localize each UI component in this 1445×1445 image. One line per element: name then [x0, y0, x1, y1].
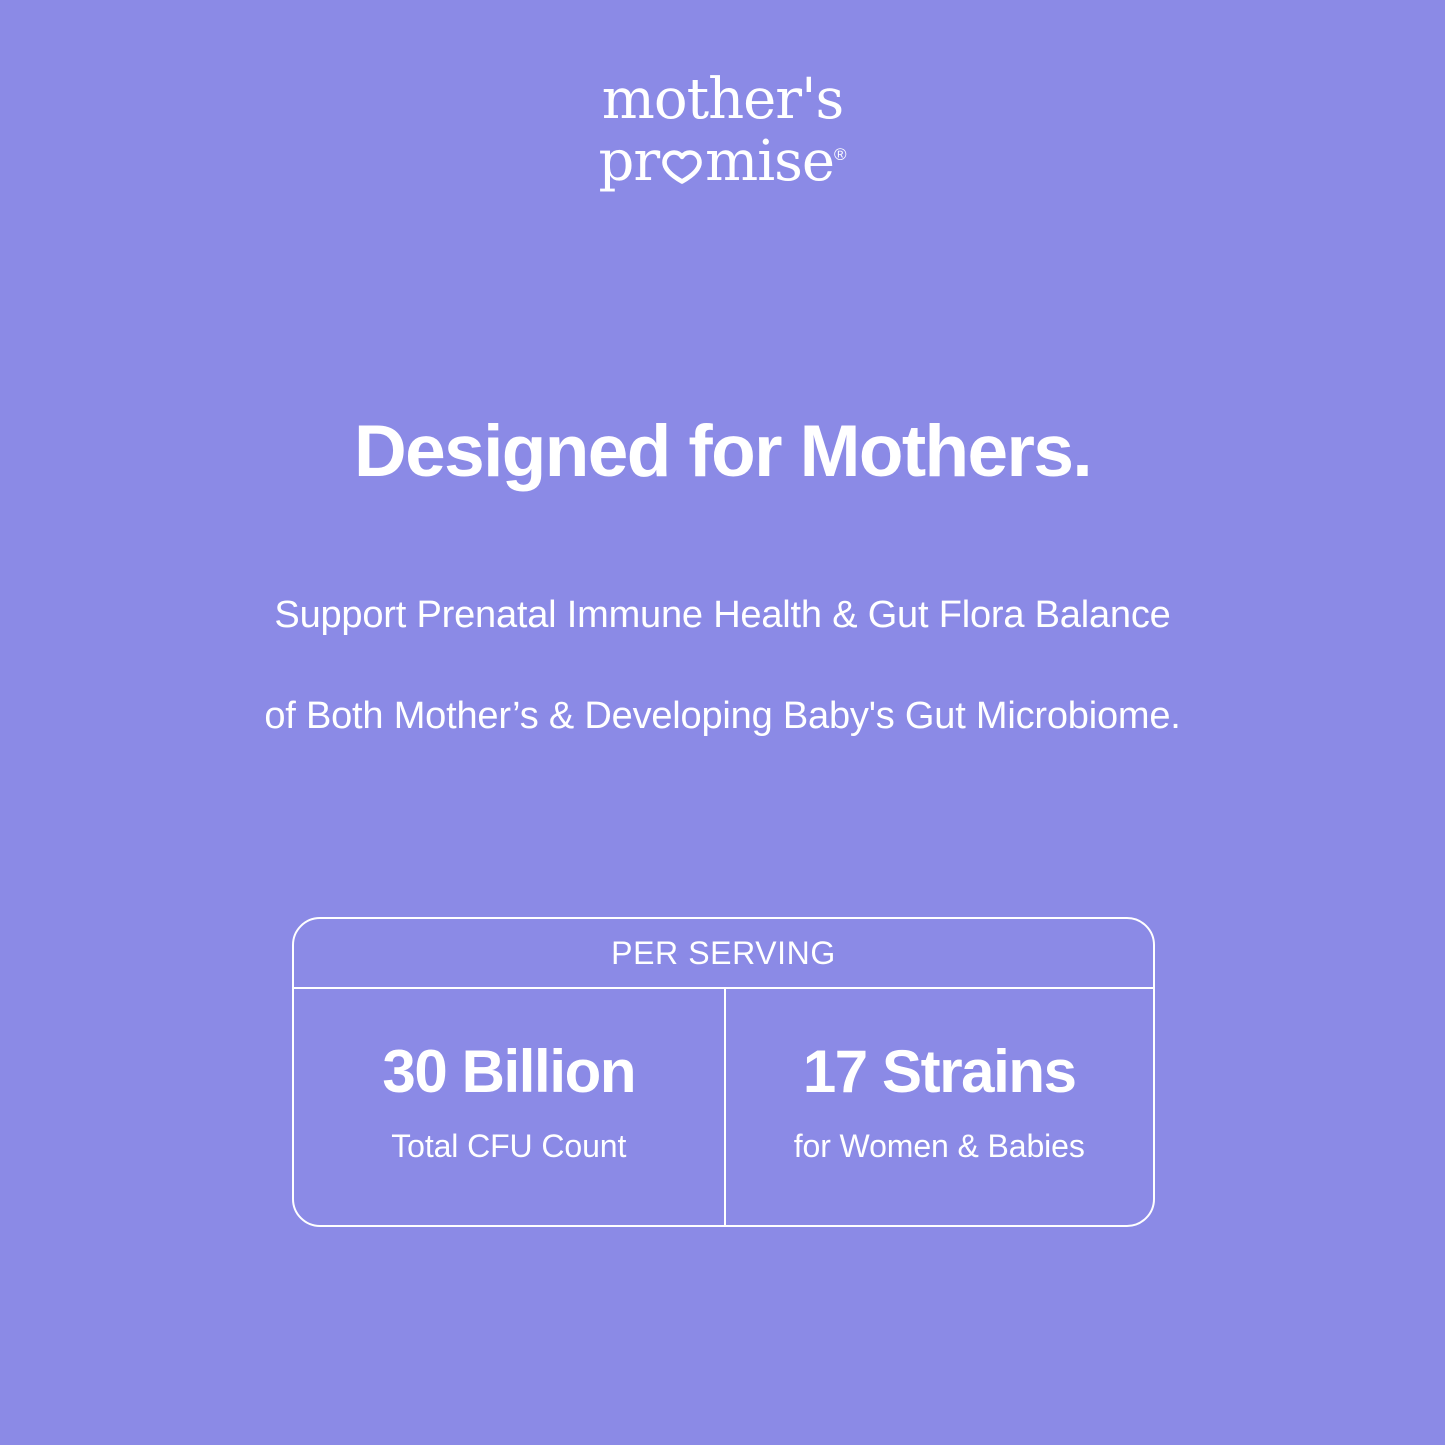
brand-logo-line-2: prmise® [0, 134, 1445, 190]
stat-value-strains: 17 Strains [803, 1042, 1076, 1102]
registered-trademark-icon: ® [834, 145, 847, 164]
stat-caption-cfu-count: Total CFU Count [391, 1130, 626, 1162]
stat-cell-cfu-count: 30 Billion Total CFU Count [294, 989, 724, 1225]
stat-cell-strains: 17 Strains for Women & Babies [724, 989, 1154, 1225]
per-serving-card-body: 30 Billion Total CFU Count 17 Strains fo… [294, 989, 1153, 1225]
brand-logo-line-2-suffix: mise [705, 129, 834, 194]
page-subtitle: Support Prenatal Immune Health & Gut Flo… [0, 565, 1445, 767]
page-subtitle-line-2: of Both Mother’s & Developing Baby's Gut… [0, 666, 1445, 767]
page-subtitle-line-1: Support Prenatal Immune Health & Gut Flo… [0, 565, 1445, 666]
page-title: Designed for Mothers. [0, 415, 1445, 488]
brand-logo-line-2-prefix: pr [598, 129, 659, 194]
per-serving-card-header: PER SERVING [294, 919, 1153, 989]
per-serving-label: PER SERVING [611, 937, 836, 969]
per-serving-card: PER SERVING 30 Billion Total CFU Count 1… [292, 917, 1155, 1227]
heart-o-icon [660, 142, 704, 186]
brand-logo-line-1: mother's [0, 72, 1445, 128]
brand-logo: mother's prmise® [0, 72, 1445, 190]
stat-caption-strains: for Women & Babies [794, 1130, 1085, 1162]
stat-value-cfu-count: 30 Billion [382, 1042, 635, 1102]
marketing-banner: mother's prmise® Designed for Mothers. S… [0, 0, 1445, 1445]
